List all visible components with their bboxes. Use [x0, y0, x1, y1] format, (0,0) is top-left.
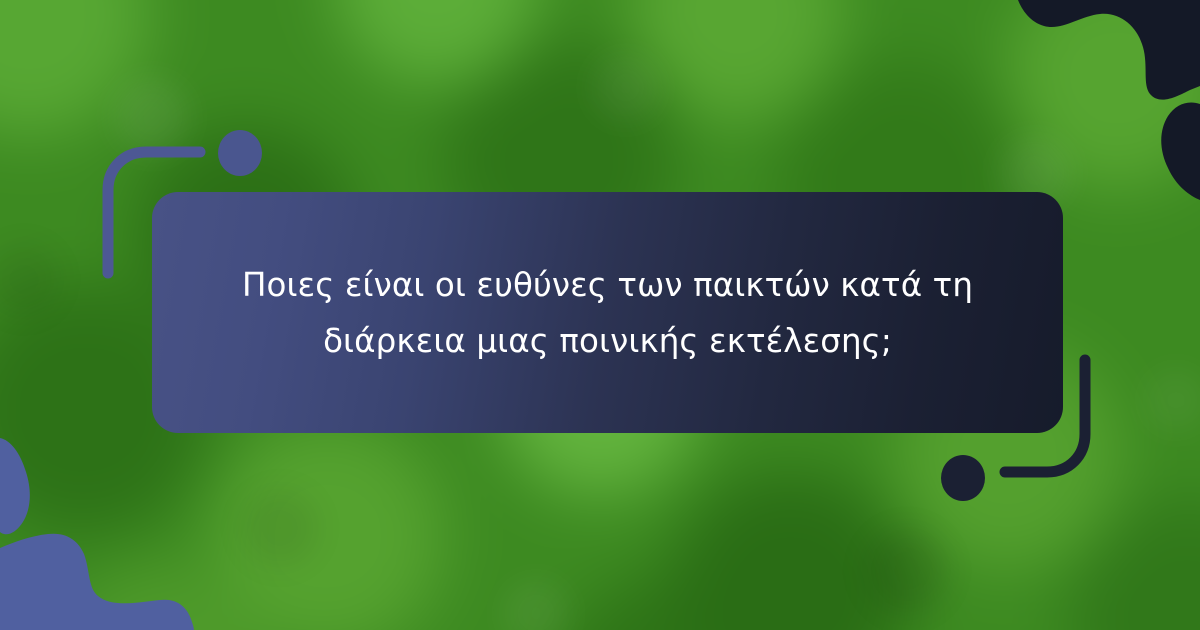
- question-text: Ποιες είναι οι ευθύνες των παικτών κατά …: [228, 257, 988, 369]
- accent-dot-bottom-right: [941, 455, 985, 501]
- accent-dot-top-left: [218, 130, 262, 176]
- social-card-canvas: Ποιες είναι οι ευθύνες των παικτών κατά …: [0, 0, 1200, 630]
- organic-blob-bottom-left: [0, 430, 230, 630]
- question-card: Ποιες είναι οι ευθύνες των παικτών κατά …: [152, 192, 1063, 433]
